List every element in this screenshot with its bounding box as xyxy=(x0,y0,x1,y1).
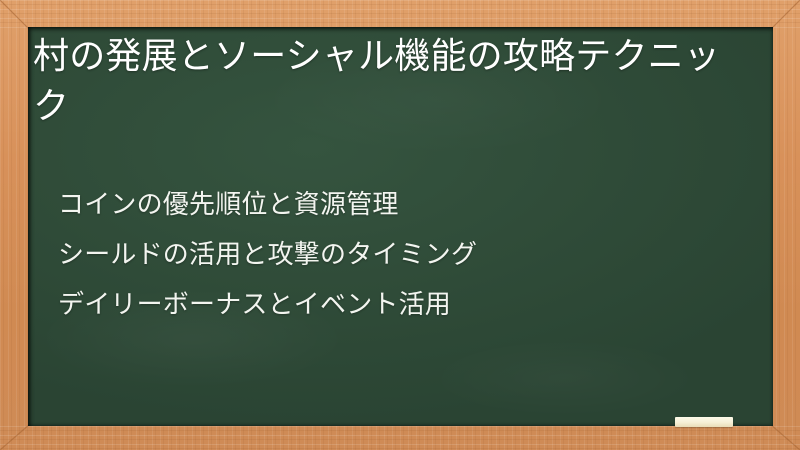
blackboard-slide: 村の発展とソーシャル機能の攻略テクニック コインの優先順位と資源管理 シールドの… xyxy=(0,0,800,450)
list-item: コインの優先順位と資源管理 xyxy=(58,179,728,229)
list-item: デイリーボーナスとイベント活用 xyxy=(58,279,728,329)
slide-title: 村の発展とソーシャル機能の攻略テクニック xyxy=(33,31,733,131)
board-content: 村の発展とソーシャル機能の攻略テクニック コインの優先順位と資源管理 シールドの… xyxy=(28,27,773,426)
topic-list: コインの優先順位と資源管理 シールドの活用と攻撃のタイミング デイリーボーナスと… xyxy=(58,179,728,329)
chalkboard-surface: 村の発展とソーシャル機能の攻略テクニック コインの優先順位と資源管理 シールドの… xyxy=(28,27,773,426)
list-item: シールドの活用と攻撃のタイミング xyxy=(58,229,728,279)
frame-wood-grain-bottom xyxy=(0,426,800,450)
frame-wood-grain-top xyxy=(0,0,800,28)
chalk-stick-icon xyxy=(675,417,733,427)
